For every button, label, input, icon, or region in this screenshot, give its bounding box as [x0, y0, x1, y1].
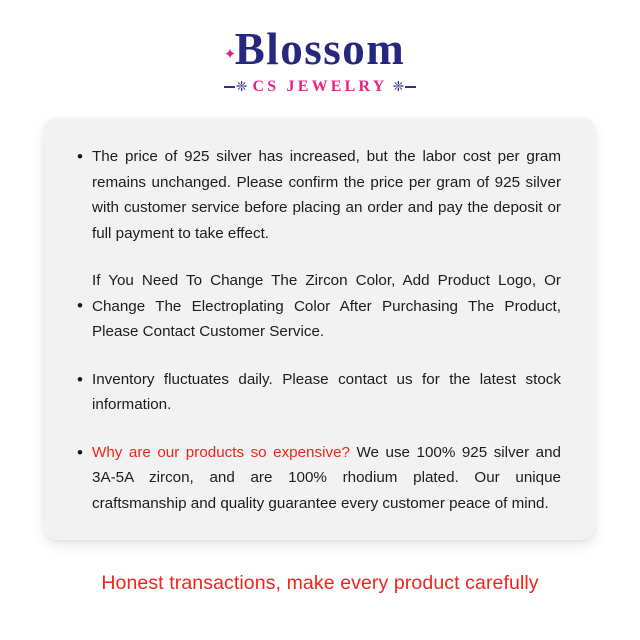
- footer-tagline: Honest transactions, make every product …: [0, 570, 640, 596]
- bullet-icon: •: [76, 297, 92, 314]
- brand-subtitle-row: ❈ CS JEWELRY ❈: [0, 78, 640, 96]
- notice-item-text: If You Need To Change The Zircon Color, …: [92, 268, 561, 345]
- notice-card: •The price of 925 silver has increased, …: [44, 118, 595, 540]
- ornament-right-icon: ❈: [393, 80, 417, 94]
- notice-list: •The price of 925 silver has increased, …: [76, 144, 561, 516]
- notice-body-text: Inventory fluctuates daily. Please conta…: [92, 371, 561, 414]
- notice-body-text: If You Need To Change The Zircon Color, …: [92, 272, 561, 340]
- ornament-left-icon: ❈: [224, 80, 248, 94]
- ornament-dash-left: [224, 86, 235, 88]
- brand-subtitle-text: CS JEWELRY: [252, 78, 387, 96]
- notice-item: •If You Need To Change The Zircon Color,…: [76, 268, 561, 345]
- brand-wordmark-text: Blossom: [235, 24, 406, 74]
- bullet-icon: •: [76, 367, 92, 392]
- notice-highlight-text: Why are our products so expensive?: [92, 444, 350, 461]
- notice-item: •Why are our products so expensive? We u…: [76, 440, 561, 517]
- ornament-glyph-right: ❈: [393, 80, 405, 94]
- notice-item: •Inventory fluctuates daily. Please cont…: [76, 367, 561, 418]
- notice-item-text: The price of 925 silver has increased, b…: [92, 144, 561, 246]
- notice-item-text: Why are our products so expensive? We us…: [92, 440, 561, 517]
- bullet-icon: •: [76, 440, 92, 465]
- ornament-dash-right: [405, 86, 416, 88]
- notice-body-text: The price of 925 silver has increased, b…: [92, 148, 561, 242]
- bullet-icon: •: [76, 144, 92, 169]
- sparkle-icon: ✦: [224, 48, 237, 61]
- brand-wordmark: ✦ Blossom: [235, 26, 406, 73]
- brand-header: ✦ Blossom ❈ CS JEWELRY ❈: [0, 0, 640, 96]
- notice-item-text: Inventory fluctuates daily. Please conta…: [92, 367, 561, 418]
- notice-item: •The price of 925 silver has increased, …: [76, 144, 561, 246]
- ornament-glyph-left: ❈: [236, 80, 248, 94]
